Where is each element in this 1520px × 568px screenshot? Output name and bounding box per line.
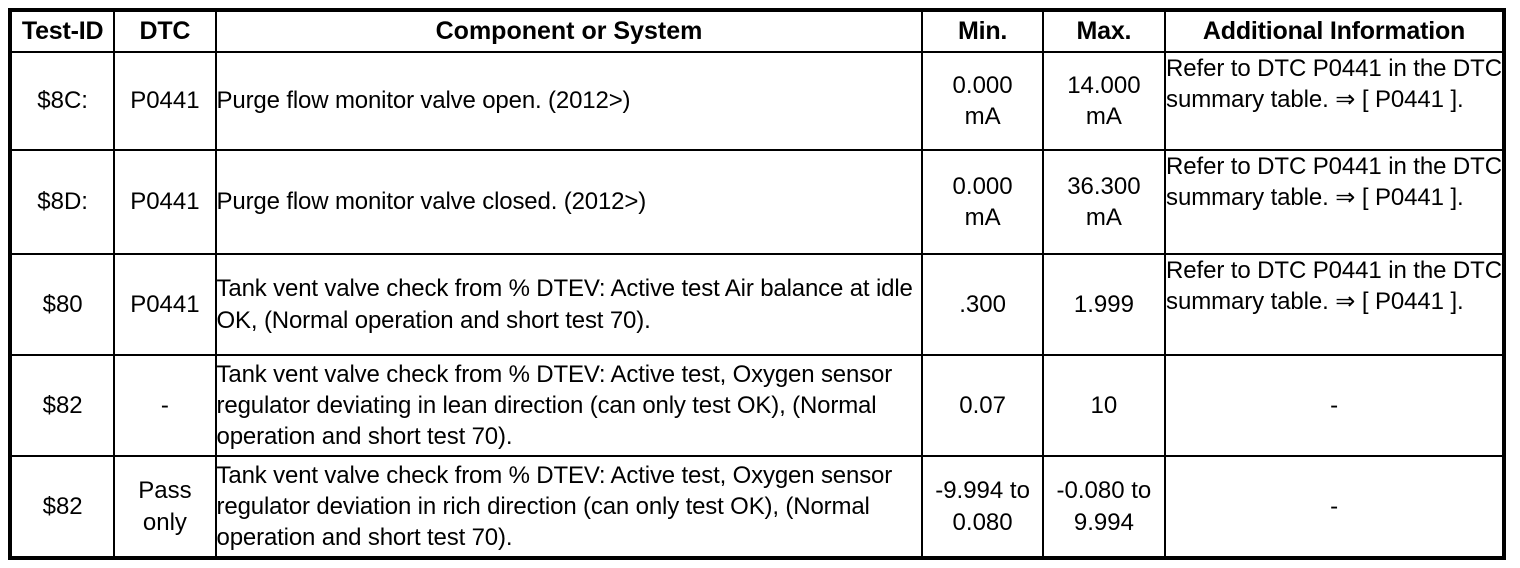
column-header-dtc: DTC [114,10,215,52]
cell-component: Purge flow monitor valve open. (2012>) [216,52,923,150]
cell-test-id: $82 [10,355,114,456]
cell-max: 36.300 mA [1043,150,1165,254]
cell-max: 1.999 [1043,254,1165,355]
cell-max: 10 [1043,355,1165,456]
cell-dtc: Pass only [114,456,215,558]
cell-additional: - [1165,355,1504,456]
document-page: Test-ID DTC Component or System Min. Max… [0,0,1520,568]
cell-min: 0.07 [922,355,1042,456]
table-header-row: Test-ID DTC Component or System Min. Max… [10,10,1504,52]
cell-additional: - [1165,456,1504,558]
table-header: Test-ID DTC Component or System Min. Max… [10,10,1504,52]
cell-component: Purge flow monitor valve closed. (2012>) [216,150,923,254]
column-header-component: Component or System [216,10,923,52]
cell-dtc: P0441 [114,254,215,355]
table-row: $8D: P0441 Purge flow monitor valve clos… [10,150,1504,254]
cell-dtc: P0441 [114,52,215,150]
table-row: $82 Pass only Tank vent valve check from… [10,456,1504,558]
cell-component: Tank vent valve check from % DTEV: Activ… [216,355,923,456]
column-header-additional: Additional Information [1165,10,1504,52]
cell-component: Tank vent valve check from % DTEV: Activ… [216,456,923,558]
cell-dtc: P0441 [114,150,215,254]
cell-test-id: $8D: [10,150,114,254]
column-header-test-id: Test-ID [10,10,114,52]
cell-dtc: - [114,355,215,456]
cell-max: -0.080 to 9.994 [1043,456,1165,558]
cell-additional: Refer to DTC P0441 in the DTC summary ta… [1165,150,1504,254]
column-header-min: Min. [922,10,1042,52]
cell-min: 0.000 mA [922,52,1042,150]
column-header-max: Max. [1043,10,1165,52]
diagnostic-test-id-table: Test-ID DTC Component or System Min. Max… [8,8,1506,560]
table-row: $8C: P0441 Purge flow monitor valve open… [10,52,1504,150]
cell-test-id: $82 [10,456,114,558]
cell-component: Tank vent valve check from % DTEV: Activ… [216,254,923,355]
table-row: $80 P0441 Tank vent valve check from % D… [10,254,1504,355]
table-body: $8C: P0441 Purge flow monitor valve open… [10,52,1504,558]
cell-test-id: $80 [10,254,114,355]
cell-test-id: $8C: [10,52,114,150]
cell-max: 14.000 mA [1043,52,1165,150]
cell-additional: Refer to DTC P0441 in the DTC summary ta… [1165,52,1504,150]
cell-min: 0.000 mA [922,150,1042,254]
cell-min: .300 [922,254,1042,355]
cell-min: -9.994 to 0.080 [922,456,1042,558]
table-row: $82 - Tank vent valve check from % DTEV:… [10,355,1504,456]
cell-additional: Refer to DTC P0441 in the DTC summary ta… [1165,254,1504,355]
